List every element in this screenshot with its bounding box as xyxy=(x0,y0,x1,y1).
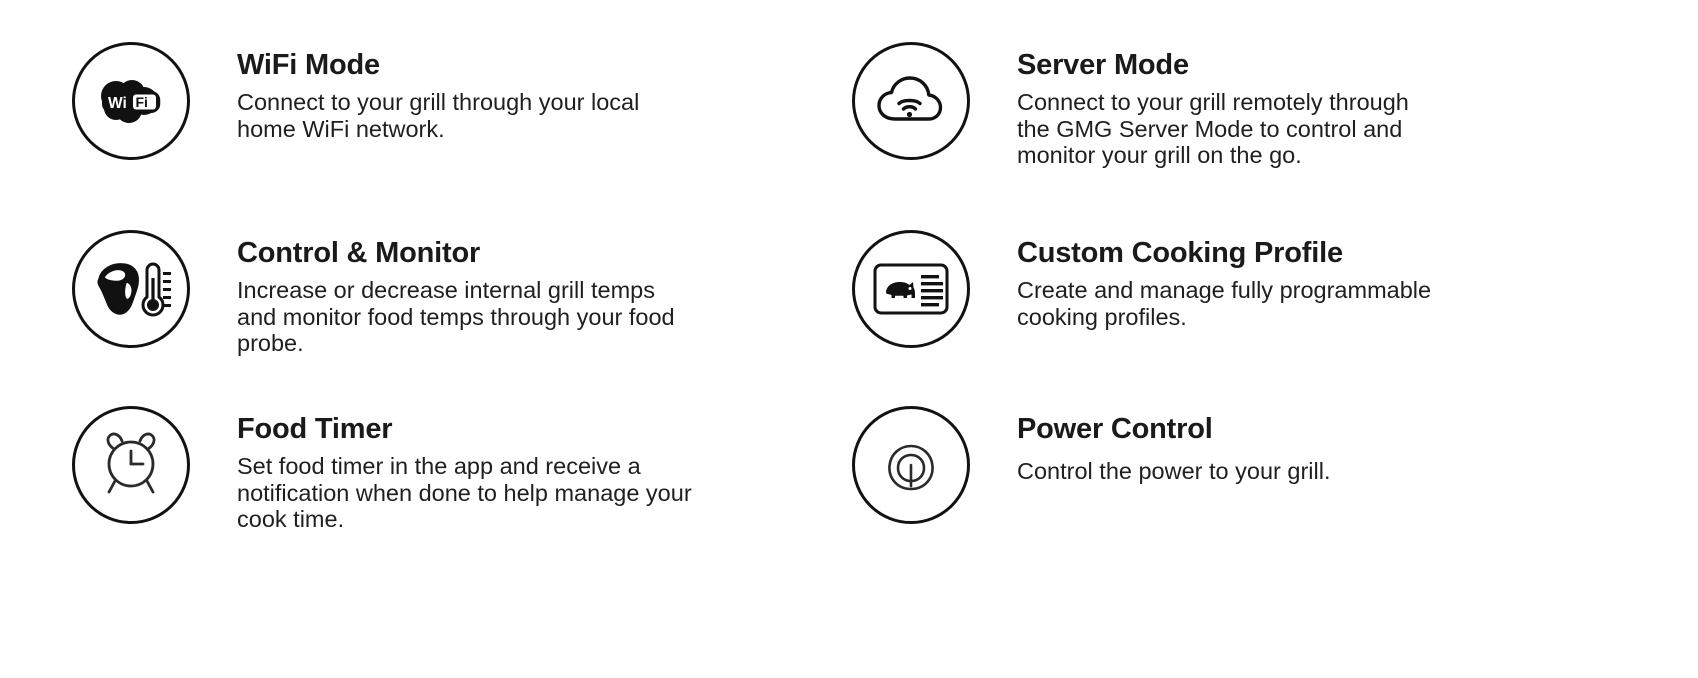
feature-title: Power Control xyxy=(1017,414,1330,444)
steak-thermometer-icon-badge xyxy=(72,230,190,348)
alarm-clock-icon xyxy=(98,431,164,499)
feature-item-control-monitor: Control & Monitor Increase or decrease i… xyxy=(72,230,852,406)
feature-text-block: Custom Cooking Profile Create and manage… xyxy=(970,230,1442,330)
feature-description: Control the power to your grill. xyxy=(1017,458,1330,484)
feature-title: Custom Cooking Profile xyxy=(1017,238,1442,268)
svg-text:Wi: Wi xyxy=(108,95,127,112)
feature-description: Connect to your grill through your local… xyxy=(237,89,697,142)
power-button-icon-badge xyxy=(852,406,970,524)
feature-title: Server Mode xyxy=(1017,50,1442,80)
feature-item-power-control: Power Control Control the power to your … xyxy=(852,406,1632,596)
feature-item-custom-cooking-profile: Custom Cooking Profile Create and manage… xyxy=(852,230,1632,406)
steak-thermometer-icon xyxy=(90,258,172,320)
svg-text:Fi: Fi xyxy=(136,94,148,110)
feature-text-block: Food Timer Set food timer in the app and… xyxy=(190,406,697,532)
wifi-logo-icon: Wi Fi xyxy=(96,79,166,123)
feature-item-food-timer: Food Timer Set food timer in the app and… xyxy=(72,406,852,596)
feature-title: WiFi Mode xyxy=(237,50,697,80)
feature-text-block: Power Control Control the power to your … xyxy=(970,406,1330,485)
wifi-logo-icon-badge: Wi Fi xyxy=(72,42,190,160)
power-button-icon xyxy=(880,434,942,496)
feature-description: Set food timer in the app and receive a … xyxy=(237,453,697,532)
feature-description: Connect to your grill remotely through t… xyxy=(1017,89,1442,168)
feature-grid: Wi Fi WiFi Mode Connect to your grill th… xyxy=(0,0,1698,678)
cloud-wifi-icon-badge xyxy=(852,42,970,160)
recipe-card-pig-icon xyxy=(873,262,949,316)
recipe-card-pig-icon-badge xyxy=(852,230,970,348)
feature-item-wifi-mode: Wi Fi WiFi Mode Connect to your grill th… xyxy=(72,42,852,230)
alarm-clock-icon-badge xyxy=(72,406,190,524)
feature-text-block: Control & Monitor Increase or decrease i… xyxy=(190,230,697,356)
feature-text-block: Server Mode Connect to your grill remote… xyxy=(970,42,1442,168)
feature-text-block: WiFi Mode Connect to your grill through … xyxy=(190,42,697,142)
feature-title: Food Timer xyxy=(237,414,697,444)
feature-title: Control & Monitor xyxy=(237,238,697,268)
cloud-wifi-icon xyxy=(875,73,947,129)
feature-item-server-mode: Server Mode Connect to your grill remote… xyxy=(852,42,1632,230)
feature-description: Increase or decrease internal grill temp… xyxy=(237,277,697,356)
feature-description: Create and manage fully programmable coo… xyxy=(1017,277,1442,330)
